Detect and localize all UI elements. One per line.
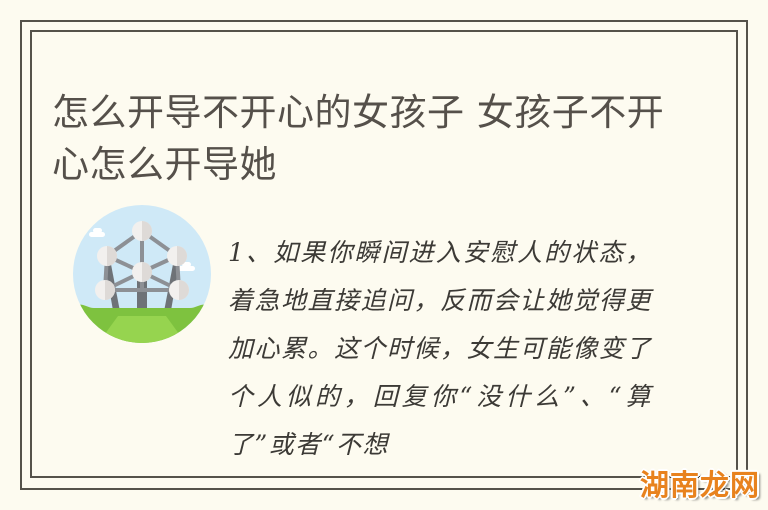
article-body-text: 1、如果你瞬间进入安慰人的状态，着急地直接追问，反而会让她觉得更加心累。这个时候… bbox=[228, 229, 652, 469]
article-page: 怎么开导不开心的女孩子 女孩子不开心怎么开导她 bbox=[0, 0, 768, 510]
atomium-landmark-icon bbox=[72, 204, 212, 344]
page-title: 怎么开导不开心的女孩子 女孩子不开心怎么开导她 bbox=[52, 87, 672, 191]
article-content: 1、如果你瞬间进入安慰人的状态，着急地直接追问，反而会让她觉得更加心累。这个时候… bbox=[52, 198, 652, 468]
atomium-illustration-svg bbox=[72, 204, 212, 344]
site-watermark: 湖南龙网 bbox=[640, 462, 760, 504]
